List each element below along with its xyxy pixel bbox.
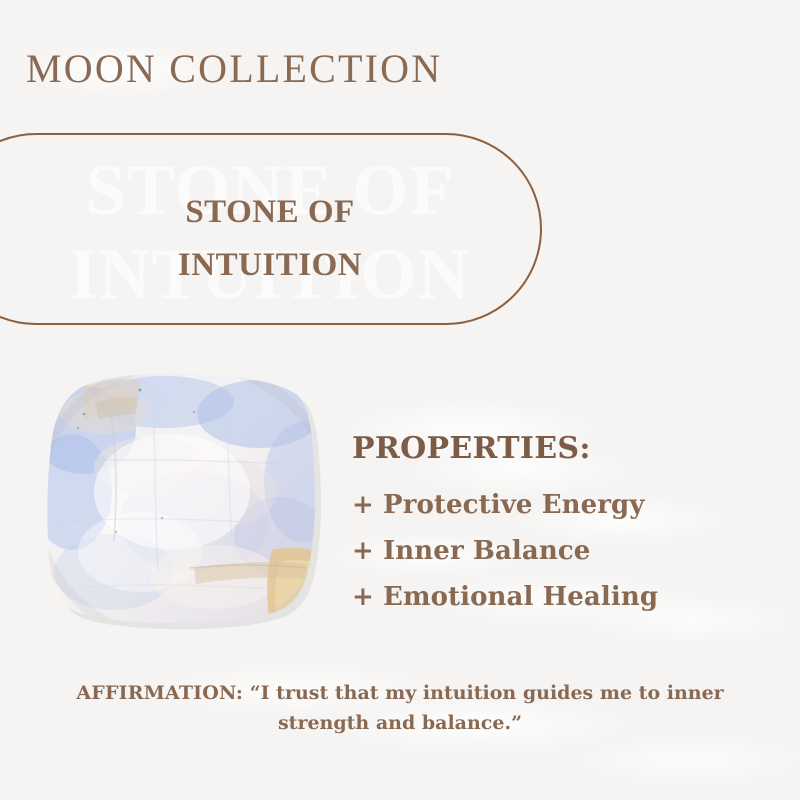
affirmation-quote: “I trust that my intuition guides me to … <box>243 682 724 734</box>
page-title: MOON COLLECTION <box>26 45 442 92</box>
property-item: + Protective Energy <box>352 482 658 528</box>
properties-heading: PROPERTIES: <box>352 430 658 468</box>
property-item: + Inner Balance <box>352 528 658 574</box>
stone-info-card: MOON COLLECTION STONE OF INTUITION STONE… <box>0 0 800 800</box>
property-item: + Emotional Healing <box>352 574 658 620</box>
affirmation-block: AFFIRMATION: “I trust that my intuition … <box>40 678 760 738</box>
properties-section: PROPERTIES: + Protective Energy + Inner … <box>352 430 658 620</box>
badge-title: STONE OF INTUITION <box>0 186 540 292</box>
affirmation-label: AFFIRMATION: <box>76 682 243 704</box>
moonstone-image <box>44 372 326 634</box>
